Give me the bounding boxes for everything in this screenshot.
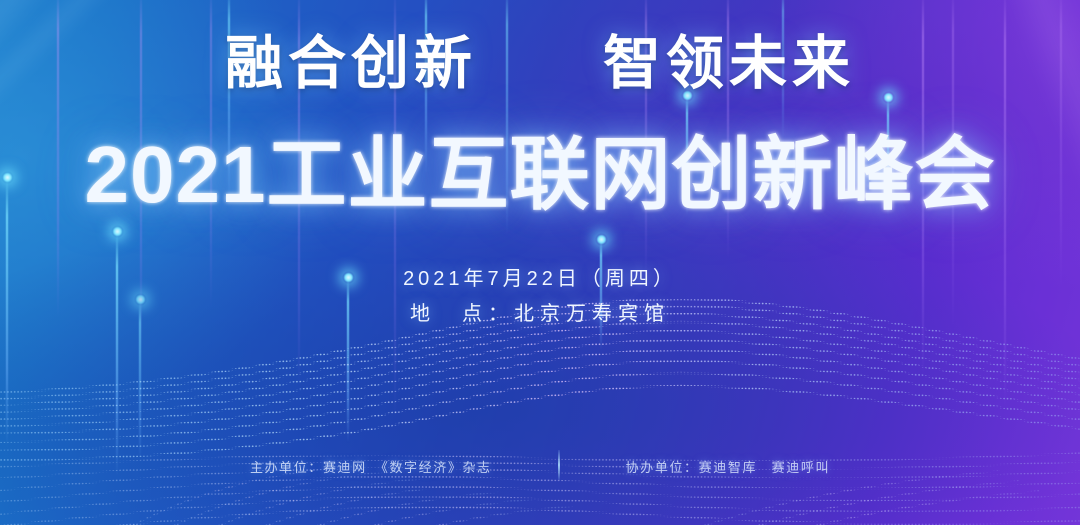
event-date: 2021年7月22日（周四） xyxy=(0,264,1080,294)
event-venue: 地 点：北京万寿宾馆 xyxy=(0,298,1080,330)
event-meta: 2021年7月22日（周四） 地 点：北京万寿宾馆 xyxy=(0,264,1080,330)
banner-main-title: 2021工业互联网创新峰会 xyxy=(0,135,1080,215)
credits-divider xyxy=(558,450,560,480)
organizer-credit: 主办单位：赛迪网 《数字经济》杂志 xyxy=(250,457,492,476)
co-organizer-credit: 协办单位：赛迪智库 赛迪呼叫 xyxy=(626,457,830,476)
banner-content: 融合创新 智领未来 2021工业互联网创新峰会 2021年7月22日（周四） 地… xyxy=(0,0,1080,525)
credits-row: 主办单位：赛迪网 《数字经济》杂志 协办单位：赛迪智库 赛迪呼叫 xyxy=(0,450,1080,482)
conference-banner: 融合创新 智领未来 2021工业互联网创新峰会 2021年7月22日（周四） 地… xyxy=(0,0,1080,525)
banner-tagline: 融合创新 智领未来 xyxy=(0,34,1080,95)
